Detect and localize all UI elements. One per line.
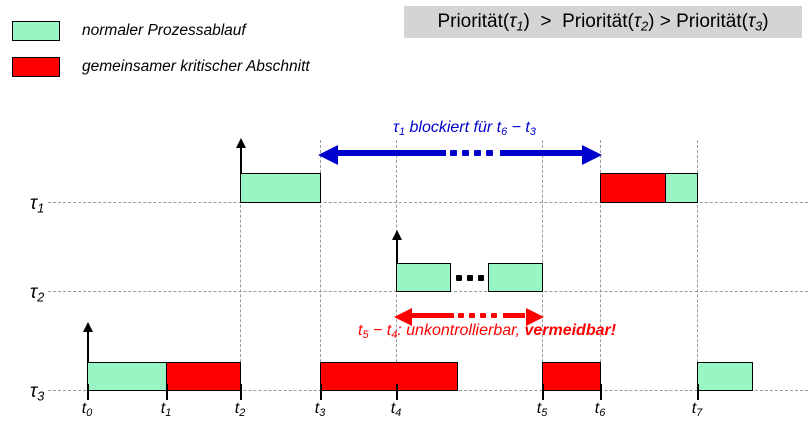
annotation-label-uncontrollable: t5 − t4: unkontrollierbar, vermeidbar! — [358, 322, 616, 341]
row-label-tau1: τ1 — [30, 193, 44, 216]
tick-label-t6: t6 — [580, 400, 620, 419]
tick-label-t3: t3 — [300, 400, 340, 419]
block-tau1-critical-t6 — [600, 173, 666, 203]
tick-t4 — [396, 384, 398, 400]
block-tau3-critical-t5 — [542, 362, 601, 391]
annotation-line-blocking-right — [500, 150, 582, 156]
tick-label-t0: t0 — [67, 400, 107, 419]
timing-diagram: τ1 τ2 τ3 — [0, 0, 812, 432]
block-tau3-critical-t3 — [320, 362, 458, 391]
block-tau2-normal-t4 — [396, 263, 451, 292]
tick-t2 — [240, 384, 242, 400]
tick-t5 — [542, 384, 544, 400]
annotation-dots-blocking — [450, 150, 493, 156]
tick-t6 — [600, 384, 602, 400]
tick-t7 — [697, 384, 699, 400]
row-label-tau2: τ2 — [30, 282, 44, 305]
tick-t3 — [320, 384, 322, 400]
release-arrowhead-tau1 — [236, 138, 246, 148]
annotation-line-blocking-left — [336, 150, 446, 156]
tick-label-t4: t4 — [376, 400, 416, 419]
block-tau1-normal-t6b — [665, 173, 698, 203]
tick-t0 — [87, 384, 89, 400]
block-tau1-normal-t2 — [240, 173, 321, 203]
tick-label-t1: t1 — [146, 400, 186, 419]
annotation-dots-uncontrollable — [458, 313, 497, 318]
block-tau3-critical-t1 — [166, 362, 241, 391]
annotation-arrowhead-blocking-right — [580, 145, 602, 165]
release-arrowhead-tau3 — [83, 322, 93, 332]
annotation-label-blocking: τ1 blockiert für t6 − t3 — [393, 119, 536, 138]
tick-label-t2: t2 — [220, 400, 260, 419]
tick-label-t7: t7 — [677, 400, 717, 419]
block-tau3-normal-t0 — [87, 362, 167, 391]
row-label-tau3: τ3 — [30, 381, 44, 404]
annotation-line-uncontrollable-left — [410, 313, 454, 318]
block-tau2-normal-t5 — [488, 263, 543, 292]
tick-label-t5: t5 — [522, 400, 562, 419]
block-tau3-normal-t7 — [697, 362, 753, 391]
tick-t1 — [166, 384, 168, 400]
release-arrowhead-tau2 — [392, 230, 402, 240]
